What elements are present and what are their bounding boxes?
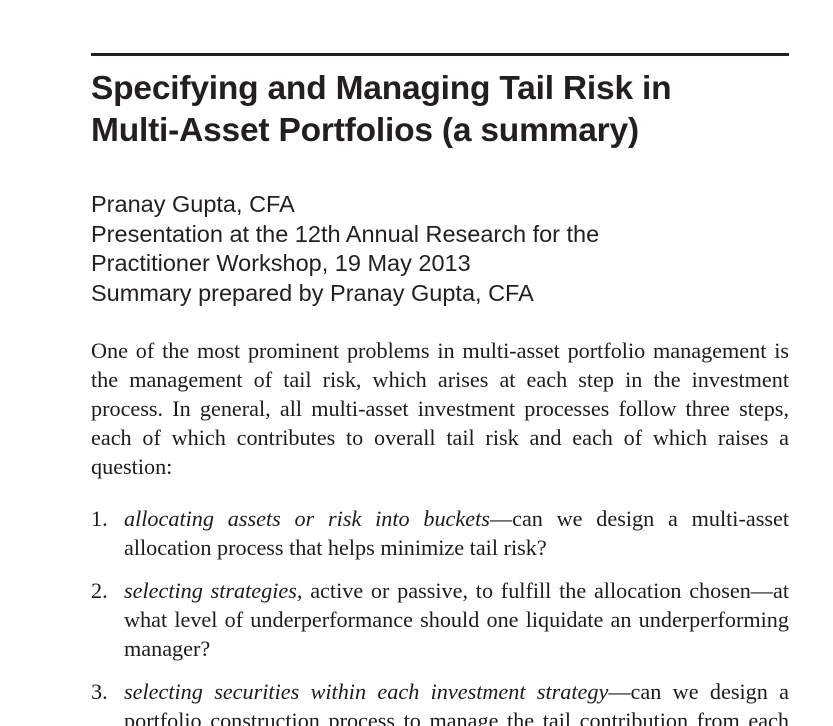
list-item: 3.selecting securities within each inves…	[91, 677, 789, 726]
numbered-steps-list: 1.allocating assets or risk into buckets…	[91, 481, 789, 726]
list-item: 1.allocating assets or risk into buckets…	[91, 504, 789, 562]
byline-summary-credit: Summary prepared by Pranay Gupta, CFA	[91, 279, 789, 309]
byline-presentation-line-1: Presentation at the 12th Annual Research…	[91, 220, 789, 250]
page-title-line-1: Specifying and Managing Tail Risk in	[91, 70, 671, 107]
byline-author: Pranay Gupta, CFA	[91, 190, 789, 220]
page-title: Specifying and Managing Tail Risk inMult…	[91, 56, 751, 152]
list-item-number: 3.	[91, 677, 121, 706]
page-content-column: Specifying and Managing Tail Risk inMult…	[91, 0, 789, 726]
byline-block: Pranay Gupta, CFA Presentation at the 12…	[91, 152, 789, 308]
byline-presentation-line-2: Practitioner Workshop, 19 May 2013	[91, 249, 789, 279]
document-page: Specifying and Managing Tail Risk inMult…	[0, 0, 833, 726]
list-item: 2.selecting strategies, active or passiv…	[91, 576, 789, 663]
page-title-line-2: Multi-Asset Portfolios (a summary)	[91, 112, 639, 149]
list-item-term: allocating assets or risk into buckets	[124, 506, 490, 531]
list-item-term: selecting securities within each investm…	[124, 679, 608, 704]
list-item-term: selecting strategies	[124, 578, 297, 603]
intro-paragraph: One of the most prominent problems in mu…	[91, 308, 789, 481]
list-item-number: 1.	[91, 504, 121, 533]
list-item-number: 2.	[91, 576, 121, 605]
